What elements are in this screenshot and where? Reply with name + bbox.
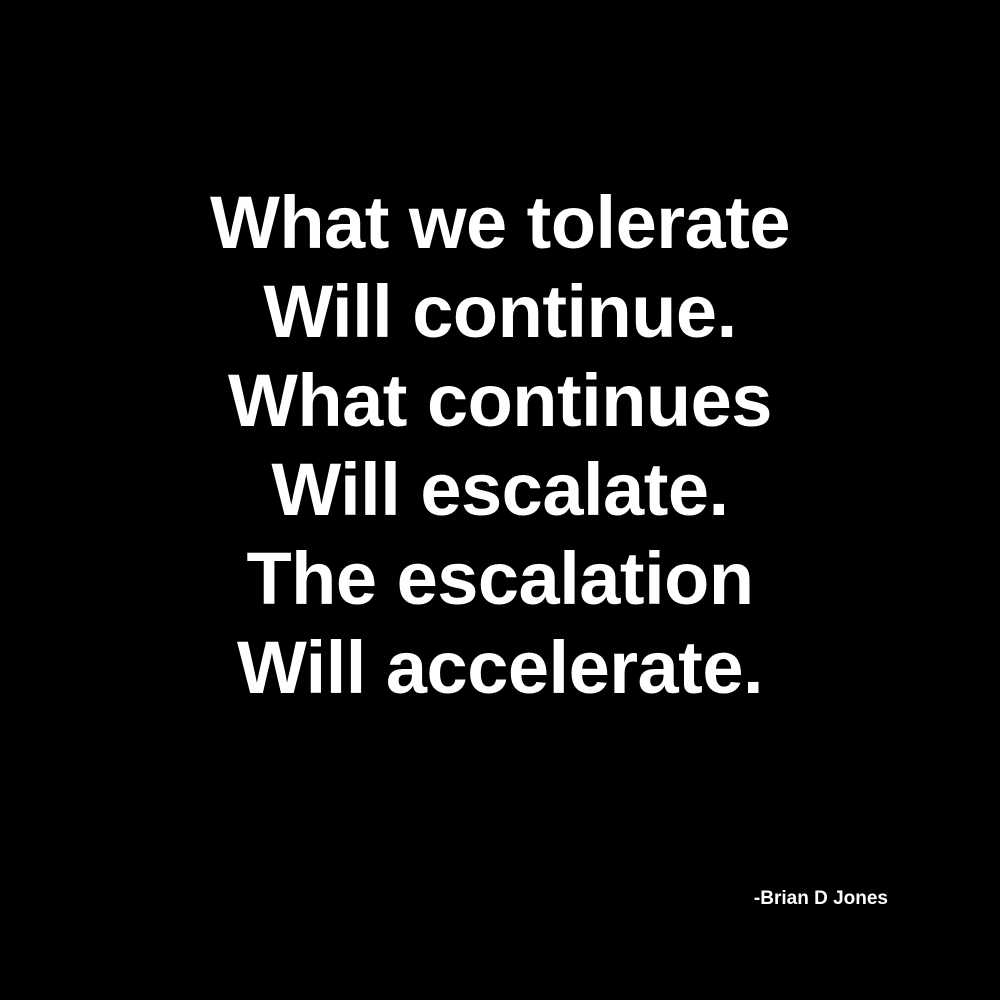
quote-line-4: Will escalate. [40, 445, 960, 534]
quote-card: What we tolerate Will continue. What con… [0, 0, 1000, 1000]
quote-line-1: What we tolerate [40, 178, 960, 267]
quote-attribution: -Brian D Jones [754, 888, 888, 910]
quote-line-6: Will accelerate. [40, 623, 960, 712]
quote-line-3: What continues [40, 356, 960, 445]
quote-line-5: The escalation [40, 534, 960, 623]
quote-line-2: Will continue. [40, 267, 960, 356]
quote-text-block: What we tolerate Will continue. What con… [0, 178, 1000, 712]
